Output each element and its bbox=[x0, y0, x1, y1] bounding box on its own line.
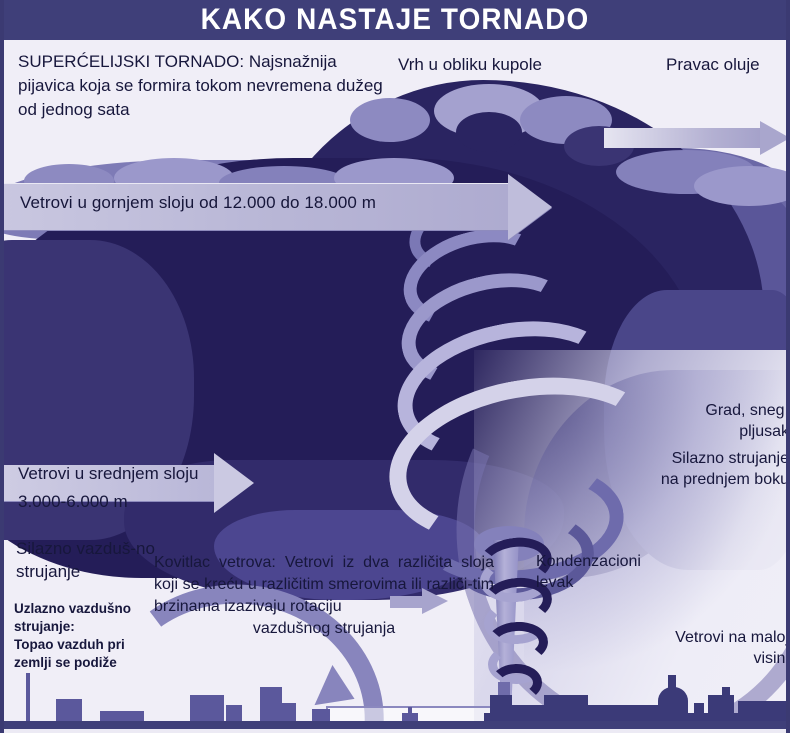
mid-level-wind-label-group: Vetrovi u srednjem sloju 3.000-6.000 m bbox=[18, 460, 198, 516]
wind-shear-explanation-last-line: vazdušnog strujanja bbox=[154, 618, 494, 640]
wind-shear-explanation-body: Kovitlac vetrova: Vetrovi iz dva različi… bbox=[154, 554, 494, 615]
intro-paragraph: SUPERĆELIJSKI TORNADO: Najsnažnija pijav… bbox=[18, 50, 388, 122]
arrow-head bbox=[214, 453, 254, 513]
dome-label: Vrh u obliku kupole bbox=[398, 55, 542, 75]
building bbox=[408, 707, 412, 721]
building bbox=[26, 673, 30, 721]
title-bar: KAKO NASTAJE TORNADO bbox=[4, 0, 786, 40]
cloud-shadow bbox=[456, 112, 522, 152]
ground-baseline bbox=[4, 721, 786, 729]
building bbox=[226, 705, 242, 721]
building bbox=[56, 699, 82, 721]
condensation-funnel-label: Kondenzacioni levak bbox=[536, 551, 676, 593]
arrow-shaft bbox=[604, 128, 760, 148]
upper-level-wind-label: Vetrovi u gornjem sloju od 12.000 do 18.… bbox=[20, 193, 376, 213]
building bbox=[190, 695, 224, 721]
building bbox=[282, 703, 296, 721]
page-title: KAKO NASTAJE TORNADO bbox=[201, 3, 590, 37]
ground-line bbox=[484, 713, 786, 721]
front-flank-downdraft-label: Silazno strujanje na prednjem boku bbox=[659, 448, 789, 490]
building bbox=[312, 709, 330, 721]
arrow-head bbox=[760, 121, 786, 155]
updraft-label: Uzlazno vazdušno strujanje: Topao vazduh… bbox=[14, 600, 154, 672]
mid-level-wind-label-line2: 3.000-6.000 m bbox=[18, 488, 198, 516]
storm-direction-arrow bbox=[604, 128, 786, 148]
building bbox=[260, 687, 282, 721]
downdraft-label: Silazno vazduš-no strujanje bbox=[16, 537, 156, 583]
arrow-head bbox=[508, 174, 552, 240]
infographic-page: KAKO NASTAJE TORNADO bbox=[0, 0, 790, 733]
wind-shear-explanation: Kovitlac vetrova: Vetrovi iz dva različi… bbox=[154, 552, 494, 640]
hail-label: Grad, sneg, pljusak bbox=[664, 400, 789, 442]
building bbox=[100, 711, 144, 721]
low-level-winds-label: Vetrovi na maloj visini bbox=[659, 627, 789, 669]
mid-level-wind-label-line1: Vetrovi u srednjem sloju bbox=[18, 464, 198, 483]
storm-direction-label: Pravac oluje bbox=[666, 55, 760, 75]
